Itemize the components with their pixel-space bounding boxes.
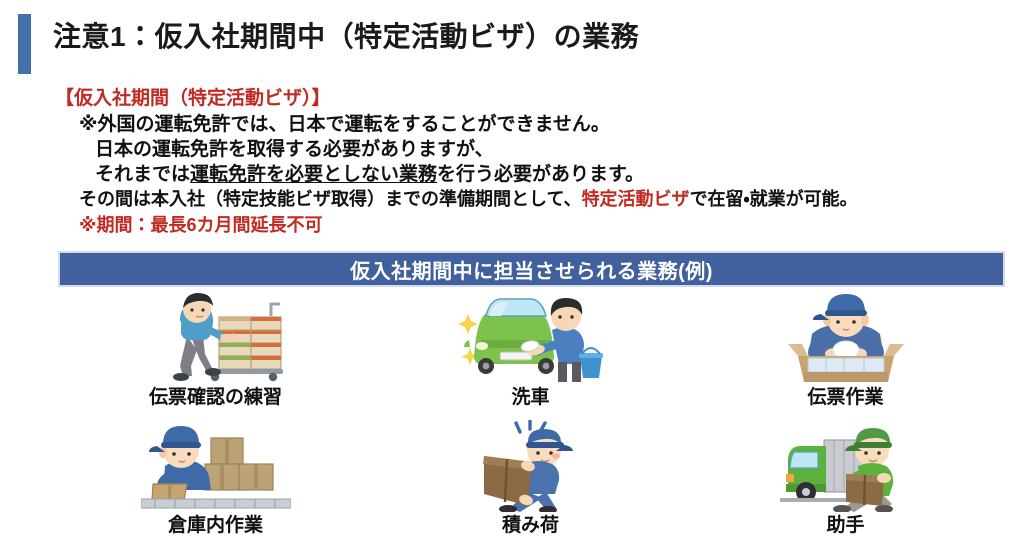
body-heading: 【仮入社期間（特定活動ビザ）】 [55,86,1015,112]
delivery-truck-worker-icon [688,420,1003,512]
task-cell: 伝票確認の練習 [58,292,373,420]
body-line-4-highlight: 特定活動ビザ [582,189,690,209]
body-line-3-suffix: を行う必要があります。 [437,164,644,185]
task-cell: 積み荷 [373,420,688,548]
body-line-2: 日本の運転免許を取得する必要がありますが、 [95,137,1015,162]
task-cell: 助手 [688,420,1003,548]
body-line-3-prefix: それまでは [95,164,190,185]
task-label: 伝票確認の練習 [149,386,282,410]
body-line-4: その間は本入社（特定技能ビザ取得）までの準備期間として、特定活動ビザで在留・就業… [79,187,1015,212]
task-label: 伝票作業 [807,386,883,410]
body-text-block: 【仮入社期間（特定活動ビザ）】 ※外国の運転免許では、日本で運転をすることができ… [55,86,1015,238]
body-note: ※期間：最長6カ月間延長不可 [79,212,1015,238]
task-cell: 洗車 [373,292,688,420]
body-line-3: それまでは運転免許を必要としない業務を行う必要があります。 [95,162,1015,187]
body-line-4-prefix: その間は本入社（特定技能ビザ取得）までの準備期間として、 [79,189,582,209]
body-line-4-suffix: で在留・就業が可能。 [690,189,858,209]
body-line-3-underlined: 運転免許を必要としない業務 [190,164,437,185]
task-grid: 伝票確認の練習 [58,292,1005,548]
cart-boxes-worker-icon [58,292,373,384]
task-cell: 倉庫内作業 [58,420,373,548]
task-label: 洗車 [511,386,549,410]
section-banner: 仮入社期間中に担当させられる業務(例) [58,251,1005,287]
task-label: 助手 [826,514,864,538]
task-label: 倉庫内作業 [168,514,263,538]
section-banner-label: 仮入社期間中に担当させられる業務(例) [350,255,713,284]
body-line-1: ※外国の運転免許では、日本で運転をすることができません。 [79,112,1015,137]
title-label: 注意1：仮入社期間中（特定活動ビザ）の業務 [53,14,639,60]
title-accent-bar [18,14,31,74]
task-label: 積み荷 [502,514,559,538]
page-title: 注意1：仮入社期間中（特定活動ビザ）の業務 [18,14,639,74]
packing-box-worker-icon [688,292,1003,384]
conveyor-belt-worker-icon [58,420,373,512]
car-washing-icon [373,292,688,384]
carrying-box-worker-icon [373,420,688,512]
task-cell: 伝票作業 [688,292,1003,420]
